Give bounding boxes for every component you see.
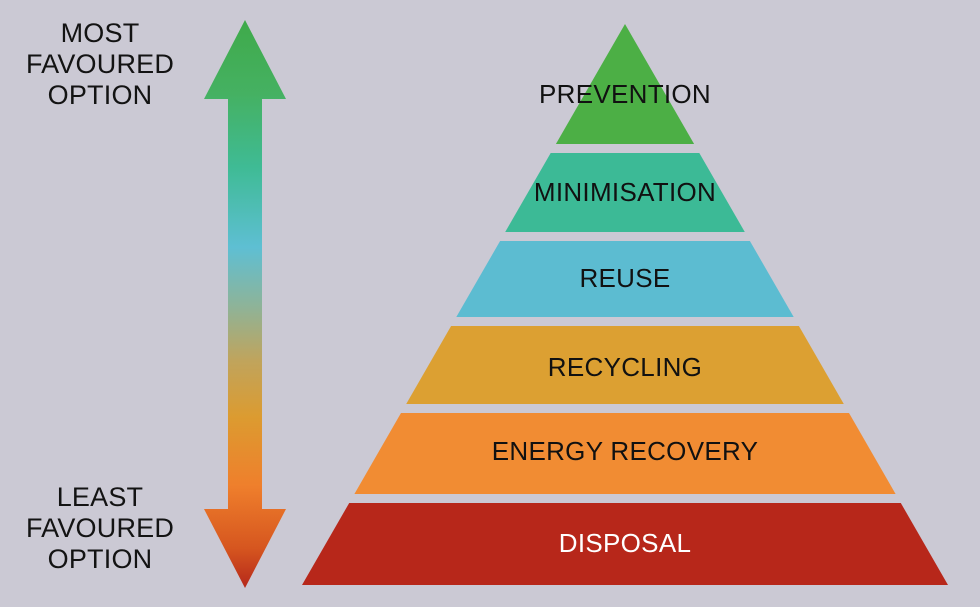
- most-favoured-option-label: MOST FAVOURED OPTION: [0, 18, 200, 111]
- tier-label-disposal: DISPOSAL: [425, 528, 825, 559]
- least-favoured-option-label: LEAST FAVOURED OPTION: [0, 482, 200, 575]
- tier-label-reuse: REUSE: [425, 263, 825, 294]
- waste-hierarchy-diagram: MOST FAVOURED OPTION LEAST FAVOURED OPTI…: [0, 0, 980, 607]
- tier-label-energy-recovery: ENERGY RECOVERY: [425, 436, 825, 467]
- favourability-arrow: [204, 20, 286, 588]
- tier-label-minimisation: MINIMISATION: [425, 177, 825, 208]
- tier-label-prevention: PREVENTION: [425, 79, 825, 110]
- double-headed-vertical-arrow-icon: [204, 20, 286, 588]
- tier-label-recycling: RECYCLING: [425, 352, 825, 383]
